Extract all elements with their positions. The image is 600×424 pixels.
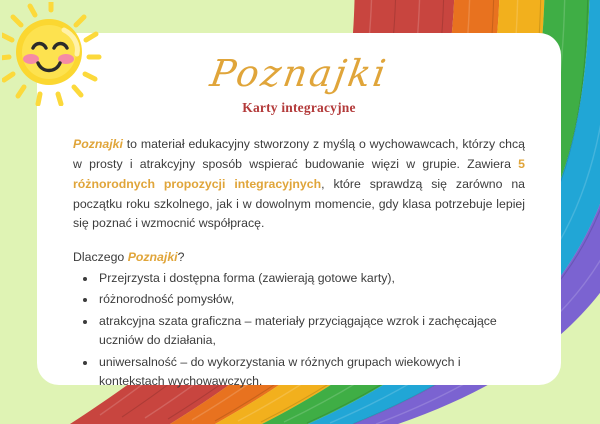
smiling-sun-icon bbox=[2, 2, 110, 106]
content-card: Poznajki Karty integracyjne Poznajki to … bbox=[37, 33, 561, 385]
poster-canvas: Poznajki Karty integracyjne Poznajki to … bbox=[0, 0, 600, 424]
brand-mention-2: Poznajki bbox=[128, 250, 178, 264]
why-suffix: ? bbox=[178, 250, 185, 264]
intro-paragraph: Poznajki to materiał edukacyjny stworzon… bbox=[73, 135, 525, 235]
page-title: Poznajki bbox=[70, 55, 528, 94]
sun-decoration bbox=[2, 2, 110, 106]
list-item: uniwersalność – do wykorzystania w różny… bbox=[97, 353, 525, 392]
page-subtitle: Karty integracyjne bbox=[73, 100, 525, 116]
features-list: Przejrzysta i dostępna forma (zawierają … bbox=[73, 269, 525, 392]
why-heading: Dlaczego Poznajki? bbox=[73, 248, 525, 266]
list-item: Przejrzysta i dostępna forma (zawierają … bbox=[97, 269, 525, 288]
brand-mention-1: Poznajki bbox=[73, 137, 123, 151]
list-item: różnorodność pomysłów, bbox=[97, 290, 525, 309]
list-item: atrakcyjna szata graficzna – materiały p… bbox=[97, 312, 525, 351]
intro-text-1: to materiał edukacyjny stworzony z myślą… bbox=[73, 137, 525, 171]
why-prefix: Dlaczego bbox=[73, 250, 128, 264]
